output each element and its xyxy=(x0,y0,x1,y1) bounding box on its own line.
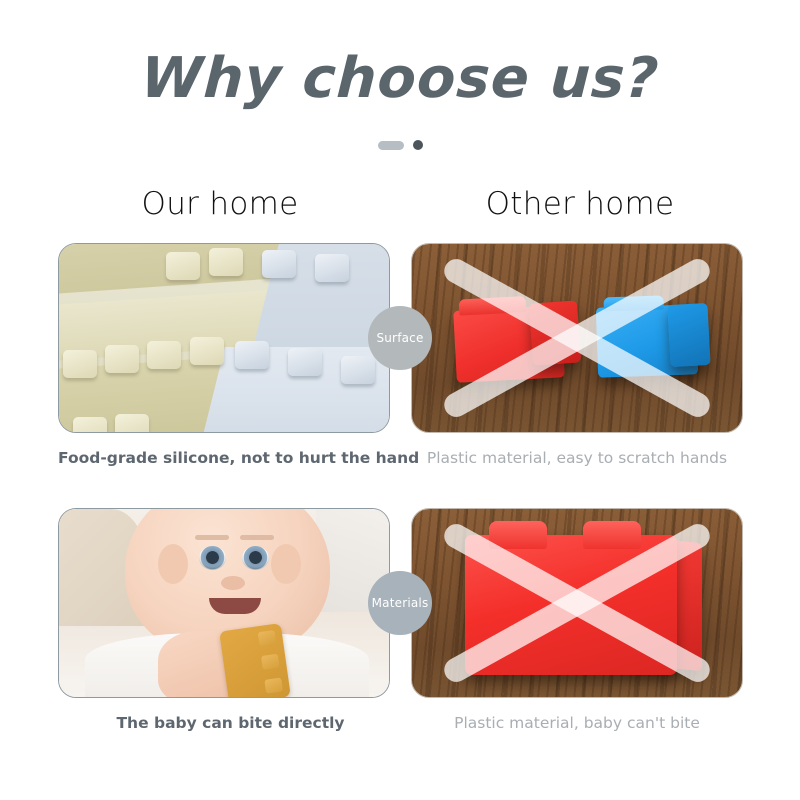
silicone-blocks-image xyxy=(59,244,389,432)
caption-other-home-surface: Plastic material, easy to scratch hands xyxy=(408,449,746,467)
column-header-other-home: Other home xyxy=(405,186,755,222)
red-plastic-brick-image xyxy=(412,509,742,697)
badge-surface-label: Surface xyxy=(376,331,423,345)
column-header-our-home: Our home xyxy=(45,186,395,222)
card-our-home-materials[interactable] xyxy=(58,508,390,698)
infographic-page: Why choose us? Our home Other home xyxy=(0,0,800,800)
card-other-home-surface[interactable] xyxy=(411,243,743,433)
column-headers: Our home Other home xyxy=(0,186,800,232)
card-other-home-materials[interactable] xyxy=(411,508,743,698)
plastic-bricks-image xyxy=(412,244,742,432)
page-title: Why choose us? xyxy=(0,48,800,110)
pagination-indicator[interactable] xyxy=(0,140,800,150)
pagination-dot-icon[interactable] xyxy=(413,140,423,150)
badge-surface: Surface xyxy=(368,306,432,370)
baby-biting-block-image xyxy=(59,509,389,697)
badge-materials: Materials xyxy=(368,571,432,635)
pagination-pill-icon[interactable] xyxy=(378,141,404,150)
badge-materials-label: Materials xyxy=(372,596,429,610)
caption-our-home-surface: Food-grade silicone, not to hurt the han… xyxy=(58,449,403,467)
card-our-home-surface[interactable] xyxy=(58,243,390,433)
caption-other-home-materials: Plastic material, baby can't bite xyxy=(408,714,746,732)
caption-our-home-materials: The baby can bite directly xyxy=(58,714,403,732)
